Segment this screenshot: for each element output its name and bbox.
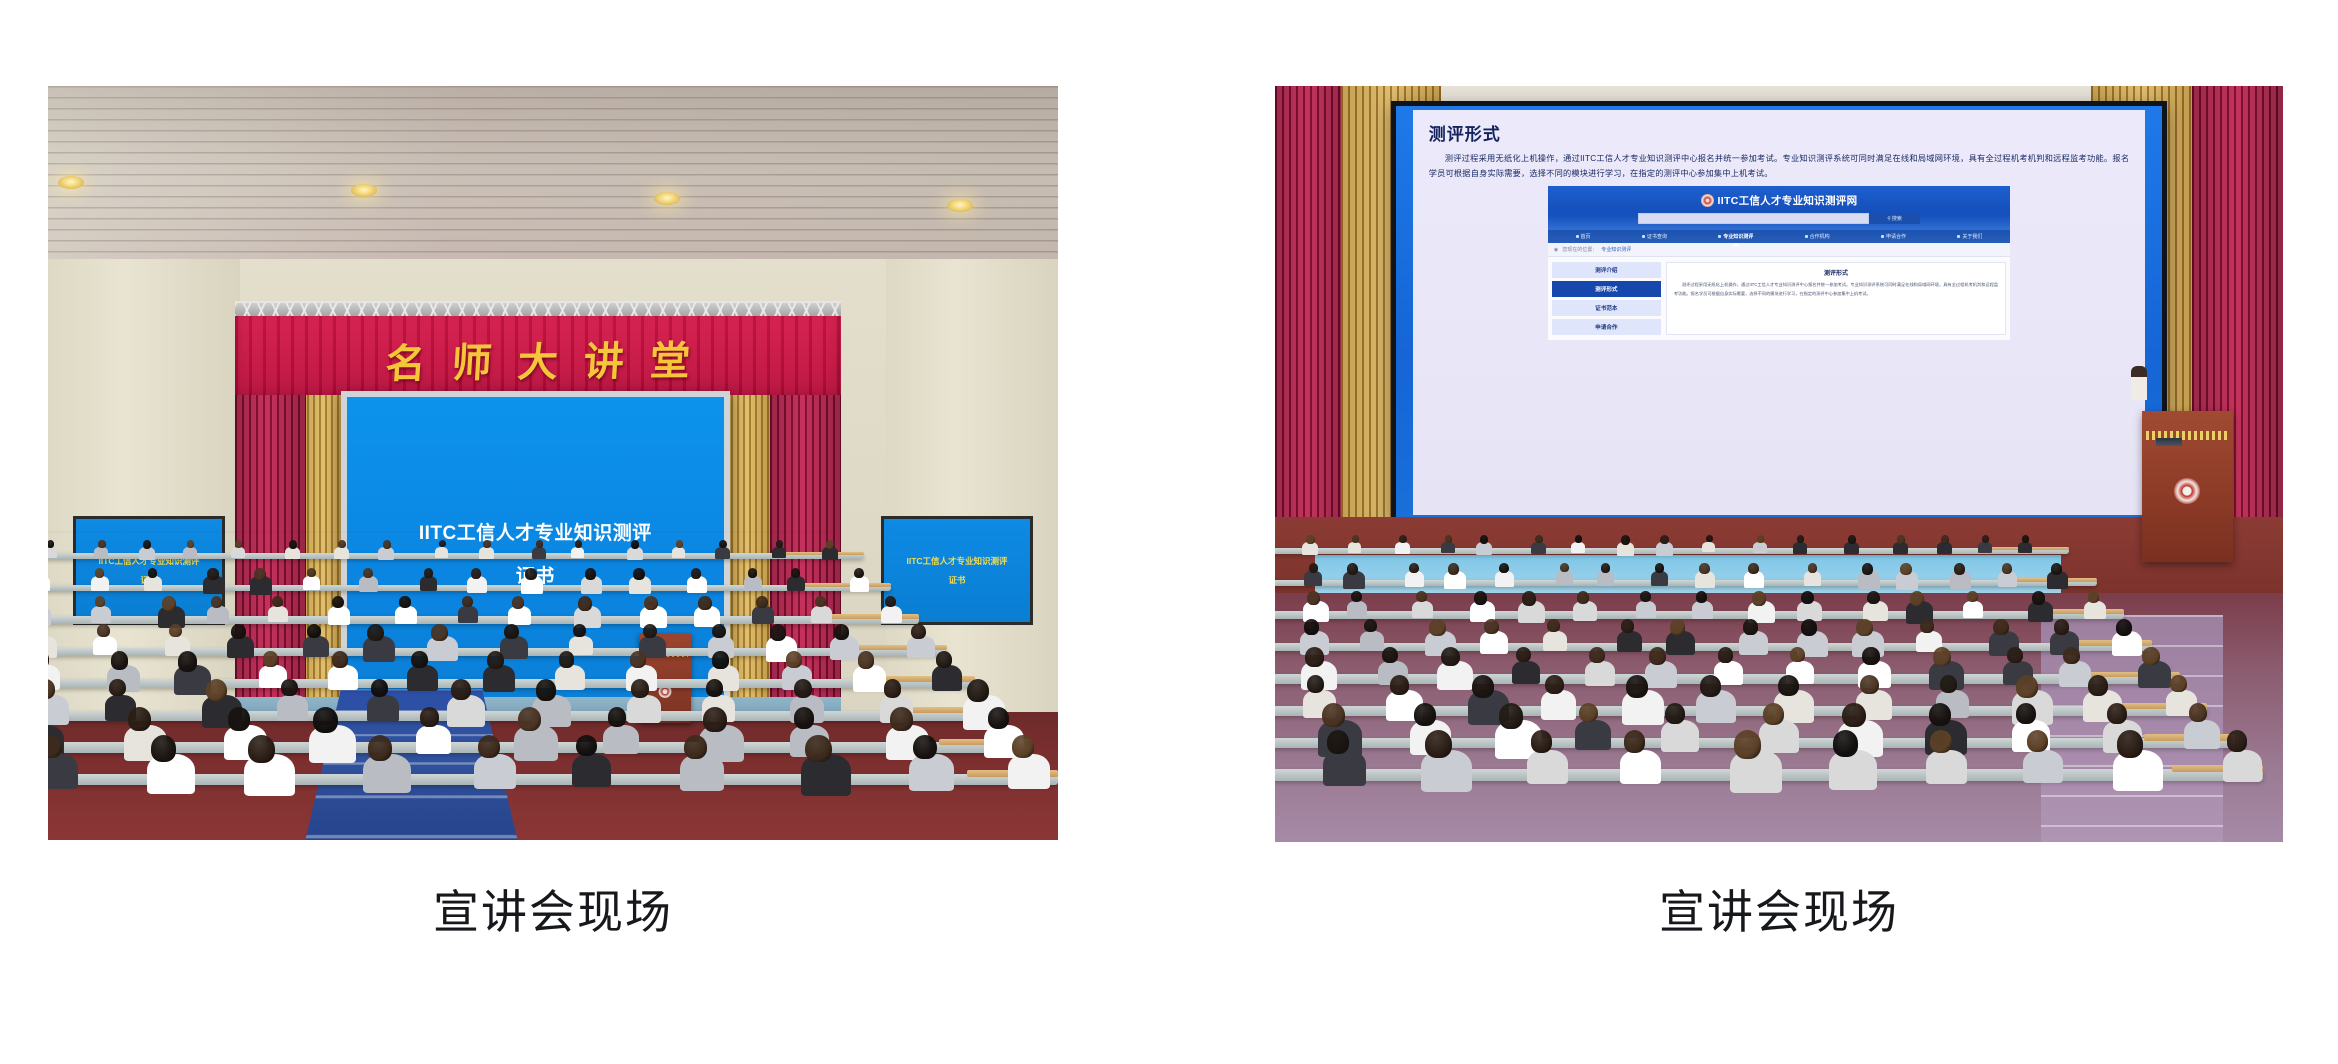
audience-head (1734, 730, 1761, 759)
audience-member (416, 725, 452, 755)
audience-member (2084, 601, 2106, 619)
audience-member (1441, 542, 1455, 554)
audience-member (1495, 571, 1513, 586)
audience-head (1474, 591, 1487, 605)
nav-item-label: 合作机构 (1810, 233, 1830, 240)
audience-member (850, 576, 869, 592)
audience-head (2032, 591, 2045, 605)
audience-member (1348, 542, 1361, 553)
audience-head (791, 568, 800, 578)
audience-head (644, 596, 658, 611)
nav-item-5[interactable]: 关于我们 (1957, 233, 1982, 240)
audience-head (1390, 675, 1409, 695)
audience-head (858, 651, 875, 669)
lecture-desk (48, 553, 864, 559)
audience-head (367, 624, 384, 642)
audience-member (447, 695, 485, 727)
audience-head (2016, 703, 2036, 724)
figure-right: 测评形式 测评过程采用无纸化上机操作，通过IITC工信人才专业知识测评中心报名并… (1275, 86, 2283, 956)
audience-head (826, 540, 834, 549)
audience-head (573, 624, 585, 637)
lecture-desk (48, 774, 1058, 786)
audience-head (1757, 535, 1764, 543)
audience-member (1585, 661, 1615, 686)
audience-member (227, 636, 254, 659)
audience-head (431, 624, 447, 641)
audience-head (748, 568, 758, 578)
audience-head (307, 624, 321, 638)
audience-member (1531, 542, 1546, 554)
audience-member (268, 606, 288, 623)
audience-head (1545, 675, 1564, 694)
audience-member (1636, 601, 1656, 618)
audience-head (1910, 591, 1924, 606)
audience-seating-left (48, 531, 1058, 840)
audience-head (1649, 647, 1666, 665)
audience-head (1929, 703, 1951, 726)
audience-head (1480, 535, 1489, 544)
audience-head (1706, 535, 1713, 542)
audience-member (508, 606, 531, 625)
audience-head (1429, 619, 1445, 636)
audience-head (815, 596, 826, 607)
audience-head (1531, 730, 1553, 753)
audience-head (854, 568, 864, 578)
audience-member (1793, 542, 1807, 554)
audience-head (1305, 647, 1324, 667)
audience-head (207, 568, 218, 580)
audience-member (479, 547, 494, 559)
audience-head (1700, 675, 1721, 697)
audience-member (2059, 661, 2091, 688)
audience-head (834, 624, 849, 640)
audience-head (794, 679, 812, 698)
audience-head (2016, 675, 2038, 698)
laptop (2156, 438, 2182, 446)
audience-member (1692, 601, 1714, 619)
audience-seating-right (1275, 532, 2283, 842)
audience-head (1763, 703, 1784, 725)
audience-head (2027, 730, 2048, 752)
audience-head (2116, 619, 2132, 636)
book-icon (1718, 235, 1721, 238)
audience-head (676, 540, 683, 548)
ceiling-light (654, 192, 680, 205)
audience-head (2054, 619, 2070, 635)
audience-member (772, 547, 785, 558)
audience-member (2138, 661, 2171, 688)
audience-head (1624, 730, 1645, 753)
audience-head (211, 596, 222, 608)
audience-head (1322, 703, 1345, 727)
audience-member (1405, 571, 1424, 586)
audience-head (2002, 563, 2012, 574)
audience-member (811, 606, 832, 623)
audience-head (770, 624, 787, 641)
audience-head (786, 651, 802, 668)
audience-head (706, 679, 723, 697)
audience-head (332, 596, 344, 609)
ceiling-light (947, 199, 973, 212)
audience-member (881, 606, 902, 623)
audience-head (1930, 730, 1952, 753)
nav-item-label: 证书查询 (1647, 233, 1667, 240)
audience-member (603, 725, 639, 755)
audience-member (627, 695, 661, 724)
audience-member (1360, 631, 1384, 651)
audience-member (715, 547, 730, 559)
audience-member (1304, 571, 1321, 585)
audience-head (1797, 535, 1805, 543)
audience-member (744, 576, 762, 591)
audience-head (1516, 647, 1531, 662)
audience-head (1655, 563, 1664, 573)
audience-head (1967, 591, 1978, 602)
audience-head (585, 568, 596, 580)
breadcrumb-prefix: 您现在的位置： (1562, 246, 1597, 253)
audience-member (207, 606, 229, 624)
audience-head (1416, 591, 1427, 602)
nav-item-3[interactable]: 合作机构 (1805, 233, 1830, 240)
audience-head (399, 596, 410, 608)
audience-head (518, 707, 541, 731)
website-title: IITC工信人才专业知识测评网 (1718, 193, 1858, 208)
audience-member (1651, 571, 1669, 586)
audience-head (487, 651, 504, 669)
audience-member (1963, 601, 1983, 618)
audience-member (555, 665, 585, 690)
figure-right-caption: 宣讲会现场 (1275, 876, 2283, 942)
audience-member (328, 665, 358, 690)
audience-member (1998, 571, 2017, 587)
audience-head (151, 735, 176, 762)
audience-member (752, 606, 774, 624)
photo-auditorium-certificate-slide: 名师大讲堂 IITC工信人才专业知识测评 证书 IITC工信人才专业知识测评 证… (48, 86, 1058, 840)
audience-head (1577, 591, 1590, 604)
search-button-label: 搜索 (1892, 215, 1902, 222)
audience-member (680, 754, 724, 790)
audience-head (2142, 647, 2159, 665)
audience-head (289, 540, 297, 548)
audience-member (1556, 571, 1572, 585)
search-button[interactable]: ⚲ 搜索 (1869, 213, 1920, 224)
audience-member (303, 636, 329, 658)
audience-member (395, 606, 416, 624)
audience-head (1801, 619, 1818, 636)
audience-head (1352, 535, 1359, 542)
audience-head (332, 651, 348, 668)
nav-item-2[interactable]: 专业知识测评 (1718, 233, 1753, 240)
slide-title: 测评形式 (1429, 120, 2129, 145)
audience-member (2018, 542, 2032, 553)
search-input[interactable] (1638, 213, 1869, 224)
audience-head (371, 679, 388, 697)
audience-head (2117, 730, 2143, 758)
audience-head (633, 568, 645, 580)
audience-head (776, 540, 783, 547)
audience-member (500, 636, 528, 659)
audience-head (206, 679, 227, 701)
audience-member (359, 576, 378, 592)
audience-head (111, 651, 128, 669)
audience-head (187, 540, 194, 548)
audience-member (1412, 601, 1433, 618)
audience-head (1862, 647, 1879, 665)
audience-head (411, 651, 427, 668)
audience-head (631, 540, 640, 549)
audience-member (1597, 571, 1614, 585)
audience-head (1499, 563, 1509, 573)
audience-head (2051, 563, 2062, 575)
audience-head (1535, 535, 1543, 543)
audience-member (1617, 631, 1642, 652)
audience-member (420, 576, 438, 591)
audience-head (228, 707, 250, 731)
audience-head (1790, 647, 1805, 662)
breadcrumb: ◉ 您现在的位置： 专业知识测评 (1548, 243, 2010, 257)
audience-head (890, 707, 913, 731)
iitc-seal-logo-icon (1701, 194, 1714, 207)
audience-head (988, 707, 1009, 729)
audience-head (684, 735, 707, 759)
audience-head (1560, 563, 1569, 572)
audience-head (1954, 563, 1965, 575)
desk-top (800, 583, 891, 587)
audience-head (1867, 591, 1880, 604)
audience-head (1660, 535, 1669, 544)
audience-member (231, 547, 244, 558)
audience-member (1571, 542, 1585, 553)
audience-head (1399, 535, 1407, 543)
audience-head (2007, 647, 2023, 664)
audience-head (281, 679, 297, 696)
audience-head (439, 540, 446, 547)
audience-head (885, 596, 896, 607)
sidebar-item-0[interactable]: 测评介绍 (1552, 262, 1661, 278)
nav-item-0[interactable]: 首页 (1576, 233, 1591, 240)
audience-head (2107, 703, 2128, 725)
audience-member (1573, 601, 1597, 621)
audience-head (1856, 619, 1872, 636)
audience-head (1327, 730, 1350, 754)
audience-head (631, 679, 649, 698)
audience-head (1941, 535, 1949, 544)
audience-head (1382, 647, 1398, 663)
audience-head (148, 568, 157, 578)
audience-member (91, 606, 111, 623)
search-icon: ⚲ (1887, 216, 1891, 222)
audience-head (462, 596, 473, 607)
audience-head (1601, 563, 1610, 573)
audience-head (1409, 563, 1419, 573)
audience-head (1589, 647, 1605, 664)
audience-head (263, 651, 277, 666)
audience-head (1575, 535, 1582, 543)
audience-head (1484, 619, 1499, 634)
audience-head (913, 735, 936, 760)
audience-head (719, 540, 727, 548)
audience-member (1575, 720, 1611, 750)
audience-head (1982, 535, 1989, 543)
podium-emblem-icon (2174, 478, 2200, 504)
audience-head (451, 679, 471, 700)
audience-member (48, 547, 57, 558)
audience-member (91, 576, 109, 591)
audience-member (183, 547, 197, 559)
audience-member (514, 725, 558, 762)
audience-head (1547, 619, 1560, 632)
audience-member (1978, 542, 1992, 554)
audience-head (420, 707, 439, 727)
website-header: IITC工信人才专业知识测评网 ⚲ 搜索 首页证书查询专业知识测评合作机 (1548, 186, 2010, 243)
audience-head (1640, 591, 1651, 602)
audience-head (307, 568, 316, 577)
audience-head (178, 651, 197, 671)
audience-member (1512, 661, 1540, 684)
audience-head (169, 624, 182, 638)
audience-head (1522, 591, 1536, 606)
handshake-icon (1805, 235, 1808, 238)
audience-head (478, 735, 500, 758)
audience-head (1472, 675, 1494, 698)
nav-item-label: 申请合作 (1886, 233, 1906, 240)
audience-head (1307, 675, 1325, 693)
audience-head (559, 651, 575, 668)
audience-member (569, 636, 593, 656)
audience-head (272, 596, 283, 607)
sidebar-item-1[interactable]: 测评形式 (1552, 281, 1661, 297)
audience-head (2088, 675, 2108, 696)
audience-member (1480, 631, 1508, 654)
stage-banner-text: 名师大讲堂 (358, 328, 718, 390)
red-curtain-left (1275, 86, 1341, 524)
audience-head (1414, 703, 1436, 726)
audience-head (1748, 563, 1759, 574)
sidebar-item-2[interactable]: 证书范本 (1552, 300, 1661, 316)
embedded-website-screenshot: IITC工信人才专业知识测评网 ⚲ 搜索 首页证书查询专业知识测评合作机 (1548, 186, 2010, 340)
audience-head (109, 679, 125, 696)
audience-head (48, 735, 62, 758)
presentation-slide: 测评形式 测评过程采用无纸化上机操作，通过IITC工信人才专业知识测评中心报名并… (1413, 110, 2145, 515)
audience-head (95, 568, 105, 578)
audience-head (1351, 591, 1362, 602)
figure-left: 名师大讲堂 IITC工信人才专业知识测评 证书 IITC工信人才专业知识测评 证… (48, 86, 1058, 956)
audience-member (1661, 720, 1699, 752)
audience-head (794, 707, 815, 729)
apply-icon (1881, 235, 1884, 238)
audience-member (571, 547, 585, 558)
audience-member (1829, 750, 1877, 790)
audience-head (383, 540, 391, 549)
audience-head (2022, 535, 2029, 543)
audience-head (1621, 535, 1630, 545)
audience-member (572, 754, 611, 786)
audience-head (1808, 563, 1817, 572)
audience-member (1395, 542, 1410, 554)
audience-member (1620, 750, 1661, 784)
audience-member (1527, 750, 1568, 784)
nav-item-label: 关于我们 (1962, 233, 1982, 240)
ceiling-light (351, 184, 377, 197)
audience-member (2184, 720, 2219, 749)
audience-head (97, 624, 110, 637)
audience-head (313, 707, 338, 733)
audience-member (48, 754, 78, 789)
audience-head (703, 707, 726, 732)
website-nav: 首页证书查询专业知识测评合作机构申请合作关于我们 (1548, 230, 2010, 243)
audience-member (1844, 542, 1859, 555)
audience-member (1008, 754, 1050, 789)
audience-head (231, 624, 245, 639)
audience-head (1699, 563, 1710, 574)
audience-head (578, 596, 592, 611)
audience-member (48, 636, 57, 658)
website-search: ⚲ 搜索 (1548, 213, 2010, 224)
audience-head (1718, 647, 1733, 663)
audience-member (1804, 571, 1821, 585)
nav-item-1[interactable]: 证书查询 (1642, 233, 1667, 240)
audience-head (1778, 675, 1799, 697)
audience-member (2023, 750, 2063, 783)
audience-head (936, 651, 952, 668)
audience-member (483, 665, 515, 692)
audience-head (1897, 535, 1905, 543)
content-heading: 测评形式 (1674, 268, 1998, 277)
website-content-panel: 测评形式 测评过程采用无纸化上机操作，通过IITC工信人才专业知识测评中心报名并… (1666, 262, 2006, 335)
audience-member (932, 665, 963, 690)
sidebar-item-3[interactable]: 申请合作 (1552, 319, 1661, 335)
location-pin-icon: ◉ (1554, 247, 1558, 253)
slide-body-text: 测评过程采用无纸化上机操作，通过IITC工信人才专业知识测评中心报名并统一参加考… (1429, 151, 2129, 181)
info-icon (1957, 235, 1960, 238)
breadcrumb-current[interactable]: 专业知识测评 (1601, 246, 1631, 253)
audience-member (144, 576, 162, 591)
audience-head (254, 568, 266, 580)
audience-head (1304, 619, 1319, 635)
audience-head (162, 596, 176, 611)
audience-head (525, 568, 536, 580)
audience-head (1670, 619, 1686, 635)
audience-head (1920, 619, 1934, 633)
figure-left-caption: 宣讲会现场 (48, 876, 1058, 942)
audience-head (608, 707, 627, 727)
nav-item-4[interactable]: 申请合作 (1881, 233, 1906, 240)
audience-member (2223, 750, 2262, 782)
audience-member (328, 606, 351, 625)
audience-member (532, 547, 547, 559)
audience-head (1012, 735, 1034, 758)
audience-head (95, 596, 106, 607)
audience-member (48, 695, 69, 725)
audience-head (1862, 563, 1873, 575)
audience-head (248, 735, 275, 763)
speaker-person (2131, 366, 2147, 400)
audience-head (1306, 535, 1315, 544)
audience-head (1752, 591, 1766, 606)
audience-member (1702, 542, 1715, 553)
audience-member (458, 606, 478, 623)
audience-head (698, 596, 712, 610)
audience-head (536, 679, 557, 701)
audience-member (1543, 631, 1567, 651)
audience-head (1933, 647, 1951, 666)
audience-member (1926, 750, 1967, 784)
audience-head (1309, 563, 1318, 572)
audience-head (576, 735, 597, 757)
figure-page: 名师大讲堂 IITC工信人才专业知识测评 证书 IITC工信人才专业知识测评 证… (0, 0, 2338, 1064)
audience-head (1579, 703, 1598, 723)
projection-screen: 测评形式 测评过程采用无纸化上机操作，通过IITC工信人才专业知识测评中心报名并… (1391, 101, 2167, 524)
